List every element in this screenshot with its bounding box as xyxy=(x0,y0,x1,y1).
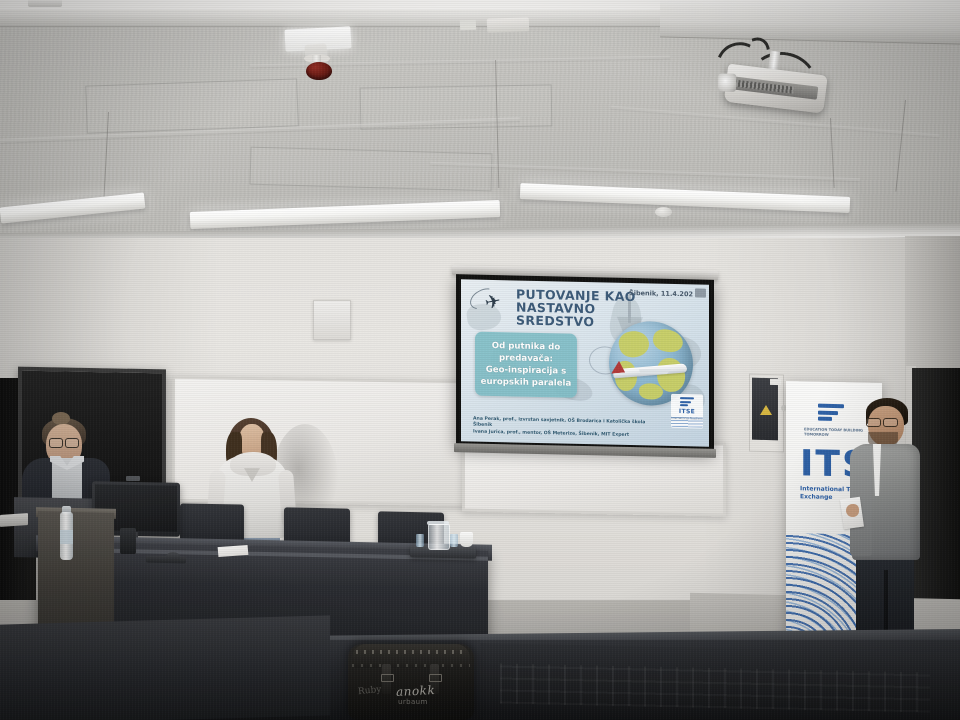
backpack-print-2: urbaum xyxy=(398,698,428,706)
backpack-studs xyxy=(356,650,468,654)
ceiling-panel-outline xyxy=(85,78,299,133)
ceiling-fixture-box xyxy=(460,20,476,31)
slide-date-badge xyxy=(695,288,706,297)
drinking-glass[interactable] xyxy=(450,534,458,547)
projector-body xyxy=(724,64,828,114)
warning-triangle-icon xyxy=(760,405,772,415)
eyeglasses-icon xyxy=(866,418,898,425)
monitor-brand-logo xyxy=(126,476,140,481)
electrical-panel-label xyxy=(770,379,781,385)
slide-itse-logo: ITSE International Teachers xyxy=(671,394,703,429)
smoke-detector-icon xyxy=(655,207,672,217)
eyeglasses-icon xyxy=(49,438,79,446)
slide-date: Šibenik, 11.4.202 xyxy=(629,289,693,298)
ceiling-fixture-box xyxy=(487,17,529,32)
presentation-slide: ✈ PUTOVANJE KAO NASTAVNO SREDSTVO Šibeni… xyxy=(461,279,709,446)
projector-lens-icon xyxy=(718,73,736,91)
callout-line2: predavača: xyxy=(499,353,553,364)
classroom-photo: ✈ PUTOVANJE KAO NASTAVNO SREDSTVO Šibeni… xyxy=(0,0,960,720)
coffee-cup[interactable] xyxy=(460,532,473,547)
slide-callout-box: Od putnika do predavača: Geo-inspiracija… xyxy=(475,332,577,398)
papers-on-desk[interactable] xyxy=(218,545,249,557)
fire-alarm-strobe-icon xyxy=(306,62,332,80)
white-object-left xyxy=(0,513,28,527)
water-pitcher[interactable] xyxy=(428,524,450,550)
callout-line4: europskih paralela xyxy=(481,377,572,389)
slide-itse-text: ITSE xyxy=(671,407,703,415)
drinking-glass[interactable] xyxy=(416,534,424,547)
hair-bun xyxy=(52,412,70,425)
backpack-buckle-icon xyxy=(381,674,394,682)
speaker xyxy=(120,528,136,554)
callout-line1: Od putnika do xyxy=(492,341,560,352)
projector-mount-plate xyxy=(28,0,62,7)
backpack-studs xyxy=(352,664,470,667)
bottle-label xyxy=(60,530,73,544)
ceiling-panel-outline xyxy=(250,147,493,192)
itse-waves-icon xyxy=(671,417,703,428)
itse-logo-bars-icon xyxy=(818,404,844,424)
projection-screen: ✈ PUTOVANJE KAO NASTAVNO SREDSTVO Šibeni… xyxy=(456,274,714,452)
hand xyxy=(846,504,859,517)
banner-logo-subtitle: EDUCATION TODAY BUILDING TOMORROW xyxy=(804,427,864,437)
backpack-print-1: anokk xyxy=(396,683,436,699)
ceiling-soffit-right xyxy=(660,0,960,45)
wall-plaque xyxy=(313,300,351,340)
front-desk-left-block xyxy=(0,615,330,720)
backpack-buckle-icon xyxy=(429,674,442,682)
mouse[interactable] xyxy=(166,552,180,561)
callout-line3: Geo-inspiracija s xyxy=(486,365,567,377)
itse-bars-icon xyxy=(680,397,694,406)
